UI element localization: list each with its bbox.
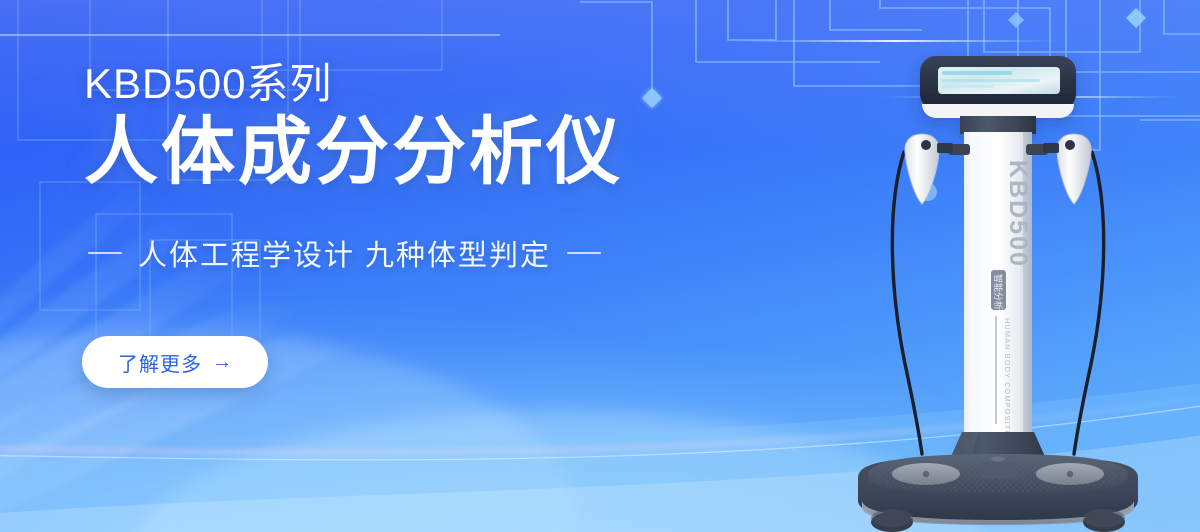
subtitle-text: 人体工程学设计 九种体型判定 [138,232,551,274]
left-grip-sensor [921,140,931,150]
subtitle-dash-left [88,252,122,254]
device-badge: 智能分析 [991,270,1006,310]
foot-left-top [871,509,913,527]
foot-pad-right-dot [1067,471,1073,477]
badge-label: 智能分析 [993,274,1004,310]
arrow-right-icon: → [212,352,232,372]
eyebrow-title: KBD500系列 [84,62,704,106]
foot-pad-left-dot [923,471,929,477]
circuit-beam [730,40,1060,42]
platform-indicator [991,456,1005,461]
page-title: 人体成分分析仪 [84,112,704,192]
hero-copy: KBD500系列 人体成分分析仪 人体工程学设计 九种体型判定 了解更多 → [84,62,704,388]
platform-center-plate [980,462,1016,478]
hero-banner: KBD500 智能分析 HUMAN BODY COMPOSITION ANALY… [0,0,1200,532]
display-head [920,56,1076,134]
product-device: KBD500 智能分析 HUMAN BODY COMPOSITION ANALY… [838,48,1158,532]
circuit-node [1008,12,1024,28]
screen-line [942,85,994,88]
left-grip-connector [937,143,953,153]
screen-line [942,71,1012,75]
right-hand-electrode [1026,134,1091,204]
learn-more-label: 了解更多 [118,348,202,377]
screen-line [942,79,1040,82]
foot-right-top [1083,509,1125,527]
right-grip-connector [1043,143,1059,153]
display-lip [922,104,1074,118]
device-brand-text: KBD500 [1004,160,1032,268]
column-rule [995,316,997,424]
column-highlight [964,132,973,434]
subtitle-row: 人体工程学设计 九种体型判定 [88,232,704,274]
subtitle-dash-right [567,252,601,254]
right-grip-sensor [1065,140,1075,150]
circuit-node [1126,8,1146,28]
learn-more-button[interactable]: 了解更多 → [82,336,268,388]
left-hand-electrode [905,134,970,204]
device-svg: KBD500 智能分析 HUMAN BODY COMPOSITION ANALY… [838,48,1158,532]
display-neck [960,116,1036,134]
decor-streak [0,34,500,36]
